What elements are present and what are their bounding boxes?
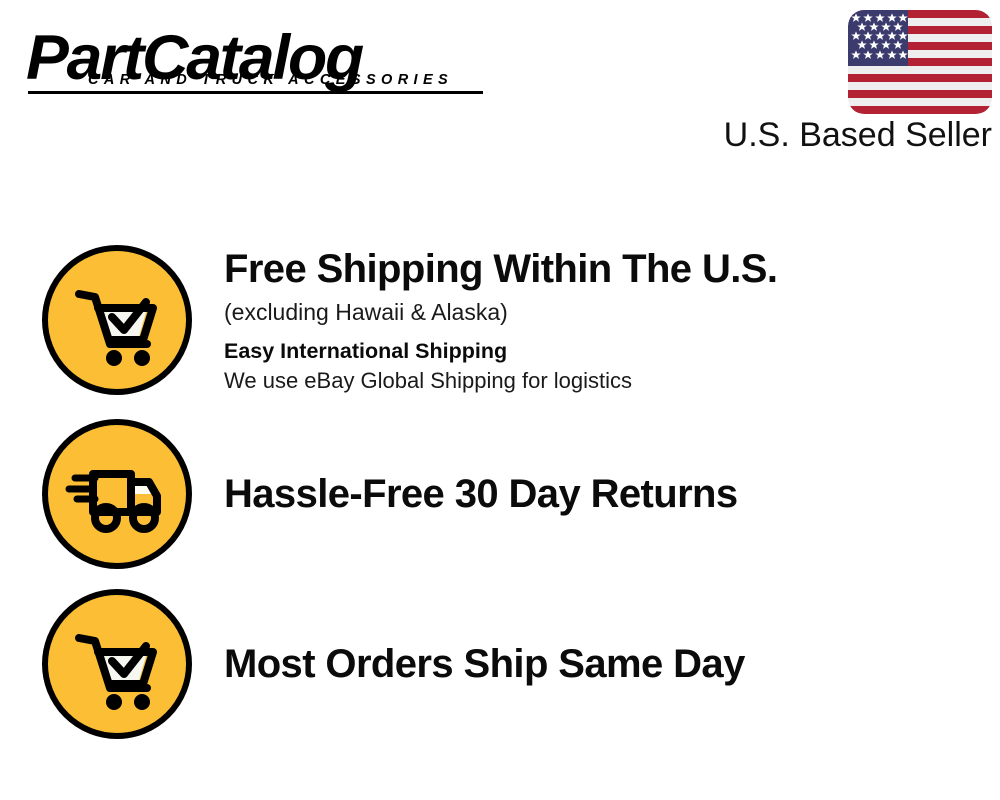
feature-title: Free Shipping Within The U.S.	[224, 245, 1000, 293]
us-based-seller-badge: U.S. Based Seller	[722, 10, 992, 154]
feature-row: Hassle-Free 30 Day Returns	[0, 418, 1000, 570]
feature-text-block: Most Orders Ship Same Day	[224, 640, 1000, 688]
logo-wordmark: PartCatalog	[26, 26, 505, 90]
us-based-seller-label: U.S. Based Seller	[722, 116, 992, 154]
feature-text-block: Free Shipping Within The U.S. (excluding…	[224, 245, 1000, 396]
banner-header: PartCatalog CAR AND TRUCK ACCESSORIES	[0, 0, 1000, 170]
us-flag-icon	[848, 10, 992, 114]
feature-secondary-title: Easy International Shipping	[224, 336, 1000, 366]
shipping-info-banner: PartCatalog CAR AND TRUCK ACCESSORIES	[0, 0, 1000, 800]
feature-title: Most Orders Ship Same Day	[224, 640, 1000, 688]
feature-title: Hassle-Free 30 Day Returns	[224, 470, 1000, 518]
shopping-cart-check-icon	[42, 589, 192, 739]
feature-row: Most Orders Ship Same Day	[0, 588, 1000, 740]
feature-row: Free Shipping Within The U.S. (excluding…	[0, 244, 1000, 396]
brand-logo: PartCatalog CAR AND TRUCK ACCESSORIES	[26, 26, 496, 88]
delivery-truck-icon	[42, 419, 192, 569]
feature-text-block: Hassle-Free 30 Day Returns	[224, 470, 1000, 518]
feature-subtitle: (excluding Hawaii & Alaska)	[224, 296, 1000, 328]
shopping-cart-check-icon	[42, 245, 192, 395]
feature-secondary-subtitle: We use eBay Global Shipping for logistic…	[224, 366, 1000, 396]
